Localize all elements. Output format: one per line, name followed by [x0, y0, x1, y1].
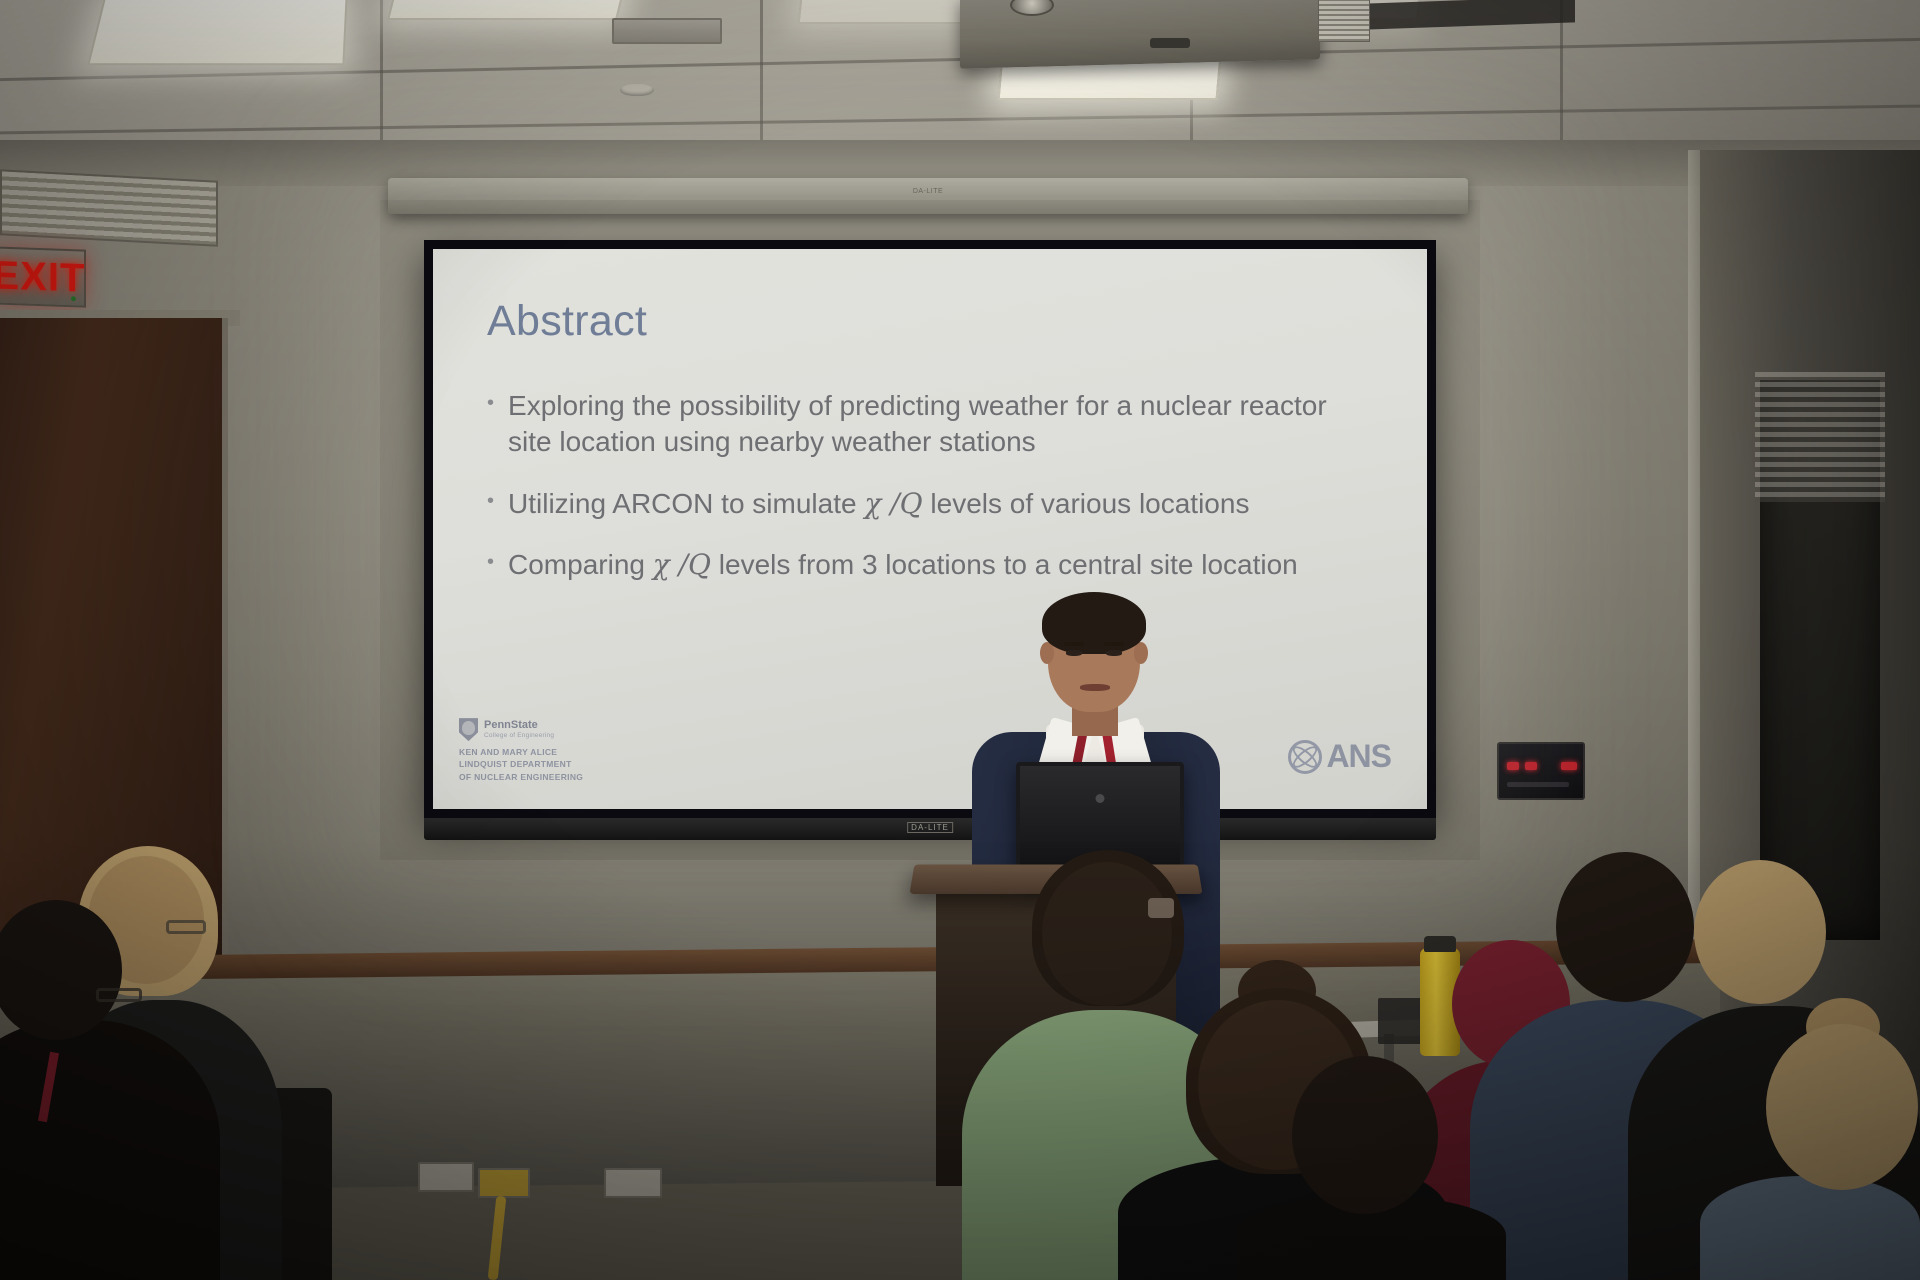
bullet-marker-icon: •: [487, 388, 494, 460]
penn-state-college-label: College of Engineering: [484, 732, 554, 739]
bullet-2-before: Utilizing ARCON to simulate: [508, 488, 864, 519]
chi-over-q-symbol: χ /Q: [864, 487, 922, 520]
screen-brand-label: DA-LITE: [907, 822, 953, 833]
projector-cable: [1150, 38, 1190, 48]
penn-state-logo: PennState College of Engineering: [459, 718, 583, 741]
projector-vent: [1318, 0, 1370, 42]
presenter-eyebrow: [1064, 642, 1084, 646]
projection-screen-bottom-bar: DA-LITE: [424, 818, 1436, 840]
audience-member-head: [1694, 860, 1826, 1004]
slide-bullet-1: • Exploring the possibility of predictin…: [487, 388, 1373, 460]
bullet-3-after: levels from 3 locations to a central sit…: [711, 549, 1298, 580]
projection-screen-surface: Abstract • Exploring the possibility of …: [433, 249, 1427, 809]
av-control-panel[interactable]: [1497, 742, 1585, 800]
projection-screen-frame: Abstract • Exploring the possibility of …: [424, 240, 1436, 818]
window-blind: [1755, 372, 1885, 502]
exit-sign-indicator-icon: [71, 296, 76, 301]
slide-bullet-3-text: Comparing χ /Q levels from 3 locations t…: [508, 547, 1298, 583]
projection-screen-housing: DA-LITE: [388, 178, 1468, 214]
presenter-hair: [1042, 592, 1146, 654]
bullet-marker-icon: •: [487, 486, 494, 522]
ans-wordmark: ANS: [1326, 738, 1391, 775]
presenter-mouth: [1080, 684, 1110, 691]
ceiling-light-panel: [387, 0, 627, 20]
presenter-eye: [1106, 650, 1122, 656]
bullet-3-before: Comparing: [508, 549, 653, 580]
exit-sign: EXIT: [0, 246, 86, 307]
department-line-1: KEN AND MARY ALICE: [459, 746, 583, 758]
slide-bullet-2: • Utilizing ARCON to simulate χ /Q level…: [487, 486, 1373, 522]
smoke-detector-icon: [620, 84, 654, 96]
audience-member-body: [1700, 1176, 1920, 1280]
eyeglasses-icon: [166, 920, 206, 934]
hair-clip-icon: [1148, 898, 1174, 918]
audience-member-head: [1292, 1056, 1438, 1214]
department-name: KEN AND MARY ALICE LINDQUIST DEPARTMENT …: [459, 746, 583, 783]
slide-bullet-1-text: Exploring the possibility of predicting …: [508, 388, 1373, 460]
presentation-room-scene: EXIT DA-LITE Abstract • Exploring the po…: [0, 0, 1920, 1280]
panel-led-icon: [1561, 762, 1577, 770]
wall-outlet-yellow: [478, 1168, 530, 1198]
slide-bullet-3: • Comparing χ /Q levels from 3 locations…: [487, 547, 1373, 583]
department-line-2: LINDQUIST DEPARTMENT: [459, 758, 583, 770]
audience-member-head: [1042, 862, 1172, 1006]
exit-sign-label: EXIT: [0, 253, 85, 301]
wall-outlet: [604, 1168, 662, 1198]
panel-button-row[interactable]: [1507, 782, 1569, 787]
ceiling-light-panel: [87, 0, 347, 65]
chi-over-q-symbol: χ /Q: [653, 548, 711, 581]
penn-state-wordmark: PennState: [484, 720, 554, 732]
ceiling-vent: [612, 18, 722, 44]
audience-member-head: [1556, 852, 1694, 1002]
presenter-eyebrow: [1104, 642, 1124, 646]
ans-atom-icon: [1288, 740, 1322, 774]
penn-state-shield-icon: [459, 718, 478, 741]
slide-footer-left: PennState College of Engineering KEN AND…: [459, 718, 583, 783]
slide-bullet-list: • Exploring the possibility of predictin…: [487, 388, 1373, 583]
wall-outlet: [418, 1162, 474, 1192]
screen-housing-label: DA-LITE: [913, 188, 943, 195]
hvac-vent-grille: [0, 169, 218, 246]
audience-member-head: [1766, 1024, 1918, 1190]
panel-led-icon: [1525, 762, 1537, 770]
presentation-slide: Abstract • Exploring the possibility of …: [433, 249, 1427, 809]
eyeglasses-icon: [96, 988, 142, 1002]
slide-title: Abstract: [487, 297, 1373, 346]
department-line-3: OF NUCLEAR ENGINEERING: [459, 771, 583, 783]
monitor-indicator-icon: [1096, 794, 1105, 803]
ans-logo: ANS: [1288, 738, 1391, 775]
water-bottle-cap[interactable]: [1424, 936, 1456, 952]
audience-member-body: [0, 1020, 220, 1280]
presenter-eye: [1066, 650, 1082, 656]
presenter-ear: [1134, 642, 1148, 664]
panel-led-icon: [1507, 762, 1519, 770]
slide-bullet-2-text: Utilizing ARCON to simulate χ /Q levels …: [508, 486, 1249, 522]
ceiling-grid-line: [380, 0, 383, 150]
bullet-marker-icon: •: [487, 547, 494, 583]
ceiling-grid-line: [760, 0, 763, 150]
yellow-cable: [488, 1196, 507, 1280]
bullet-2-after: levels of various locations: [923, 488, 1250, 519]
